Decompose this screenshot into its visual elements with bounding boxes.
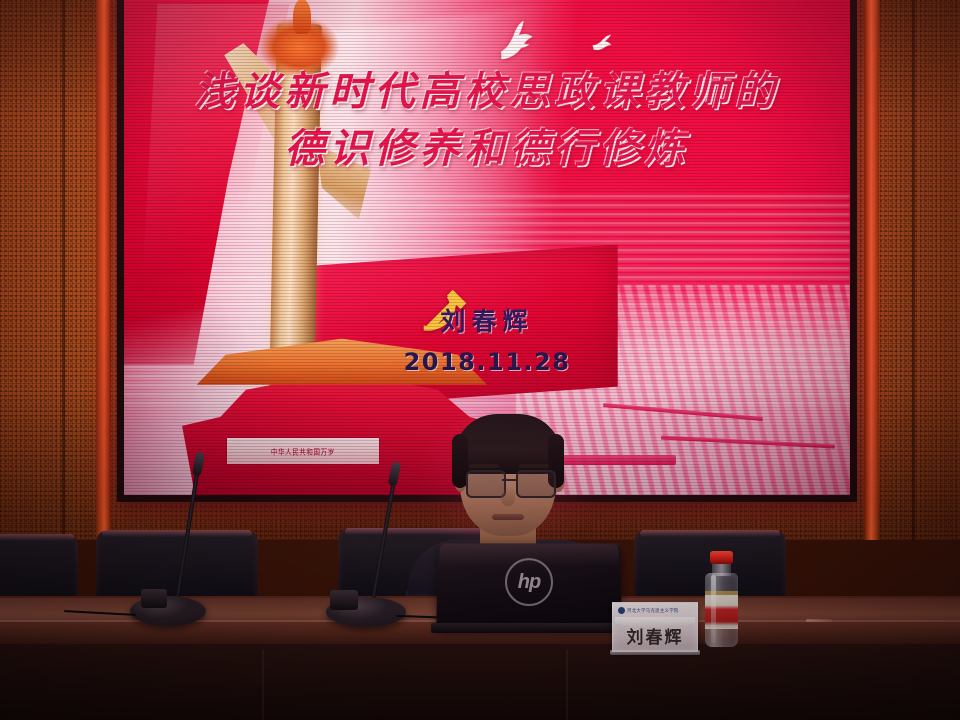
table-panel-seam-2 bbox=[566, 650, 568, 720]
speaker-eyebrow-right bbox=[519, 464, 549, 468]
name-plate: 河北大学马克思主义学院 刘春辉 bbox=[612, 602, 698, 652]
laptop-lid: hp bbox=[436, 543, 621, 628]
nameplate-org-text: 河北大学马克思主义学院 bbox=[627, 608, 679, 614]
wall-trim-right bbox=[864, 0, 879, 540]
water-bottle bbox=[701, 551, 742, 647]
speaker-nose bbox=[501, 486, 515, 506]
eyeglasses-lens-left bbox=[466, 470, 506, 498]
eyeglasses-bridge bbox=[502, 479, 516, 481]
hp-logo-text: hp bbox=[518, 572, 540, 592]
microphone-left-control-box bbox=[141, 589, 167, 608]
org-emblem-icon bbox=[618, 607, 625, 614]
table-panel-seam-1 bbox=[262, 650, 264, 720]
table-small-object bbox=[806, 619, 832, 622]
eyeglasses-lens-right bbox=[516, 470, 556, 498]
laptop-base bbox=[431, 623, 627, 633]
bottle-label bbox=[705, 595, 738, 629]
nameplate-name-text: 刘春辉 bbox=[613, 623, 697, 648]
speaker-eyebrow-left bbox=[469, 464, 499, 468]
wall-seam-left bbox=[62, 0, 65, 540]
nameplate-org-logo: 河北大学马克思主义学院 bbox=[618, 607, 679, 614]
bottle-cap bbox=[710, 551, 733, 564]
bottle-highlight bbox=[711, 575, 716, 643]
bottle-neck bbox=[712, 563, 731, 576]
nameplate-stand bbox=[610, 650, 700, 655]
wall-trim-left bbox=[96, 0, 111, 540]
hp-laptop[interactable]: hp bbox=[437, 543, 621, 628]
hp-logo-icon: hp bbox=[505, 558, 553, 606]
microphone-center-control-box bbox=[330, 590, 358, 610]
lecture-hall-photo: 中华人民共和国万岁 浅谈新时代高校思政课教师的 德识修养和德行修炼 刘春辉 20… bbox=[0, 0, 960, 720]
speaker-mouth bbox=[492, 514, 524, 520]
conference-table-front bbox=[0, 644, 960, 720]
wall-seam-right bbox=[912, 0, 915, 540]
